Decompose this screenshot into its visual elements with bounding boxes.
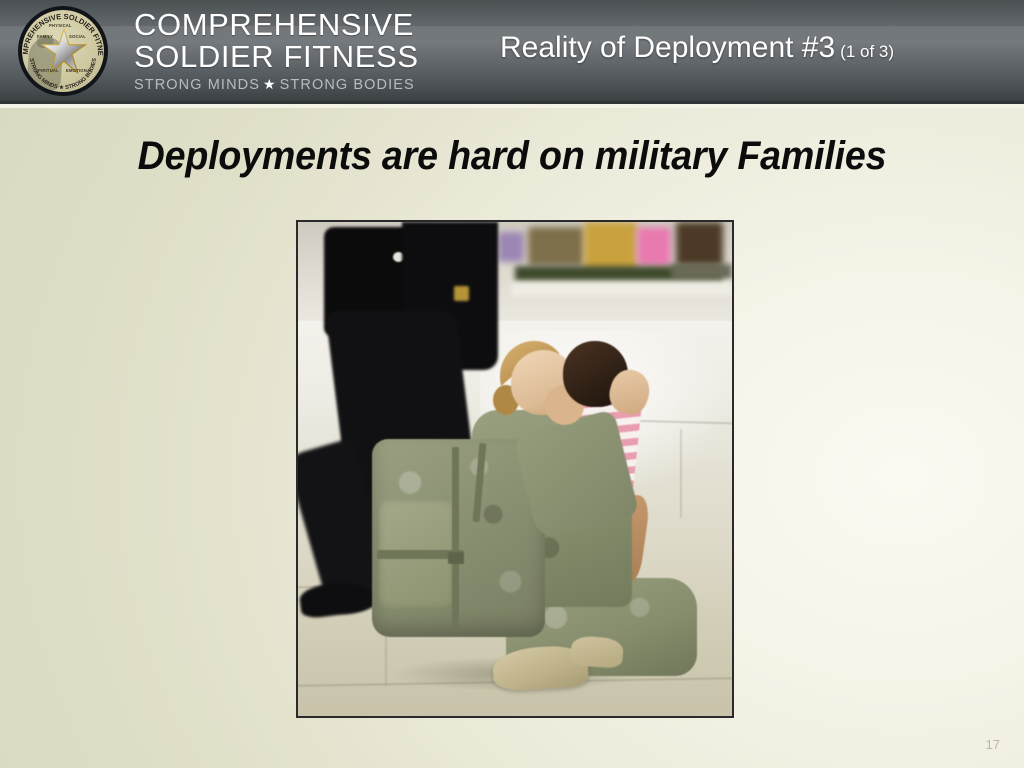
photo-soldier-rucksack: [372, 439, 546, 637]
deployment-photo: [298, 222, 732, 716]
deployment-photo-frame: [296, 220, 734, 718]
photo-floor-seam: [680, 429, 682, 518]
svg-text:STRONG MINDS ★ STRONG BODIES: STRONG MINDS ★ STRONG BODIES: [28, 58, 98, 92]
page-title: Reality of Deployment #3(1 of 3): [500, 31, 894, 65]
brand-line-comprehensive: COMPREHENSIVE: [134, 9, 464, 41]
seal-dimension-spiritual: SPIRITUAL: [35, 68, 59, 73]
seal-arc-top-label: COMPREHENSIVE SOLDIER FITNESS: [18, 6, 105, 56]
photo-passerby-luggage-tag: [454, 286, 469, 301]
brand-tagline: STRONG MINDS★STRONG BODIES: [134, 76, 464, 93]
comprehensive-soldier-fitness-seal-icon: COMPREHENSIVE SOLDIER FITNESS STRONG MIN…: [18, 6, 108, 96]
header-light-strip: [0, 104, 1024, 108]
photo-background-kiosk: [498, 232, 524, 262]
seal-dimension-family: FAMILY: [37, 34, 53, 39]
seal-dimension-social: SOCIAL: [69, 34, 86, 39]
star-icon: ★: [260, 76, 280, 92]
slide-header-band: COMPREHENSIVE SOLDIER FITNESS STRONG MIN…: [0, 0, 1024, 101]
page-title-main: Reality of Deployment #3: [500, 31, 835, 64]
photo-background-kiosk-base: [671, 264, 732, 279]
svg-text:COMPREHENSIVE SOLDIER FITNESS: COMPREHENSIVE SOLDIER FITNESS: [18, 6, 105, 56]
brand-tagline-left: STRONG MINDS: [134, 77, 260, 93]
photo-background-counter: [511, 281, 732, 296]
brand-wordmark: COMPREHENSIVE SOLDIER FITNESS STRONG MIN…: [134, 4, 464, 93]
seal-dimension-emotional: EMOTIONAL: [66, 68, 93, 73]
slide-canvas: COMPREHENSIVE SOLDIER FITNESS STRONG MIN…: [0, 0, 1024, 768]
seal-arc-bottom-label: STRONG MINDS ★ STRONG BODIES: [28, 58, 98, 92]
photo-rucksack-buckle: [448, 552, 464, 564]
seal-dimension-physical: PHYSICAL: [49, 23, 72, 28]
photo-background-kiosk: [528, 227, 584, 267]
seal-arc-text-top: COMPREHENSIVE SOLDIER FITNESS STRONG MIN…: [18, 6, 108, 96]
photo-background-kiosk: [584, 222, 636, 271]
photo-background-kiosk: [676, 222, 724, 266]
photo-rucksack-strap: [452, 447, 460, 629]
brand-tagline-right: STRONG BODIES: [280, 77, 415, 93]
slide-subtitle: Deployments are hard on military Familie…: [31, 134, 994, 179]
page-number: 17: [986, 737, 1000, 752]
photo-rucksack-strap: [472, 443, 486, 522]
brand-line-soldier-fitness: SOLDIER FITNESS: [134, 41, 464, 73]
page-title-counter: (1 of 3): [835, 42, 894, 61]
photo-background-kiosk: [637, 227, 672, 267]
